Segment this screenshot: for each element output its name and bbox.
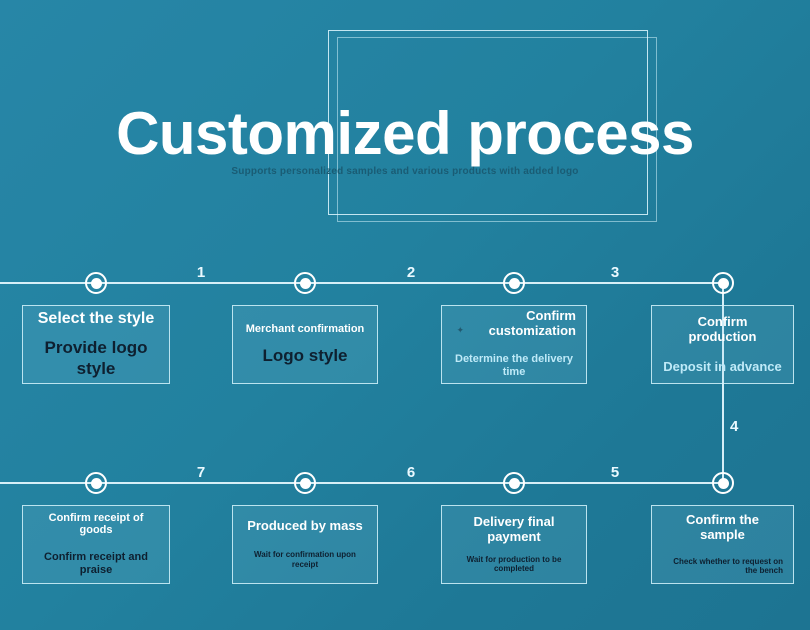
timeline-node-4[interactable] xyxy=(712,272,734,294)
timeline-rail-bottom xyxy=(0,482,723,484)
step-card-2-subtitle: Logo style xyxy=(243,346,367,366)
step-card-8-subtitle: Confirm receipt and praise xyxy=(33,551,159,577)
timeline-node-3[interactable] xyxy=(503,272,525,294)
timeline-rail-top xyxy=(0,282,723,284)
step-number-2: 2 xyxy=(391,264,431,281)
step-card-7-title: Produced by mass xyxy=(243,519,367,534)
step-card-7[interactable]: Produced by mass Wait for confirmation u… xyxy=(232,505,378,584)
step-card-3-subtitle: Determine the delivery time xyxy=(452,353,576,379)
page-subtitle: Supports personalized samples and variou… xyxy=(0,165,810,179)
step-number-3: 3 xyxy=(595,264,635,281)
page-title: Customized process xyxy=(0,100,810,168)
timeline-node-1[interactable] xyxy=(85,272,107,294)
placeholder-glyph-icon: ✦ xyxy=(455,326,464,335)
step-card-2-title: Merchant confirmation xyxy=(243,323,367,336)
step-number-1: 1 xyxy=(181,264,221,281)
step-card-1[interactable]: Select the style Provide logo style xyxy=(22,305,170,384)
step-card-1-title: Select the style xyxy=(33,310,159,328)
step-number-7: 7 xyxy=(181,464,221,481)
step-card-3-title: Confirm customization xyxy=(452,309,576,339)
step-card-6-subtitle: Wait for production to be completed xyxy=(452,555,576,574)
timeline-node-6[interactable] xyxy=(503,472,525,494)
step-card-3[interactable]: ✦ Confirm customization Determine the de… xyxy=(441,305,587,384)
step-card-5[interactable]: Confirm the sample Check whether to requ… xyxy=(651,505,794,584)
slide-canvas: Customized process Supports personalized… xyxy=(0,0,810,630)
step-card-8-title: Confirm receipt of goods xyxy=(33,512,159,537)
timeline-node-8[interactable] xyxy=(85,472,107,494)
step-card-6-title: Delivery final payment xyxy=(452,515,576,545)
step-card-2[interactable]: Merchant confirmation Logo style xyxy=(232,305,378,384)
step-number-5: 5 xyxy=(595,464,635,481)
step-card-8[interactable]: Confirm receipt of goods Confirm receipt… xyxy=(22,505,170,584)
step-card-4-title: Confirm production xyxy=(662,315,783,345)
step-number-6: 6 xyxy=(391,464,431,481)
step-card-7-subtitle: Wait for confirmation upon receipt xyxy=(243,550,367,569)
timeline-node-5[interactable] xyxy=(712,472,734,494)
step-card-5-subtitle: Check whether to request on the bench xyxy=(662,557,783,576)
step-card-4-subtitle: Deposit in advance xyxy=(662,359,783,375)
timeline-node-7[interactable] xyxy=(294,472,316,494)
step-card-5-title: Confirm the sample xyxy=(662,513,783,543)
step-card-4[interactable]: Confirm production Deposit in advance xyxy=(651,305,794,384)
step-card-6[interactable]: Delivery final payment Wait for producti… xyxy=(441,505,587,584)
timeline-node-2[interactable] xyxy=(294,272,316,294)
step-number-4: 4 xyxy=(730,418,738,435)
step-card-1-subtitle: Provide logo style xyxy=(33,338,159,379)
